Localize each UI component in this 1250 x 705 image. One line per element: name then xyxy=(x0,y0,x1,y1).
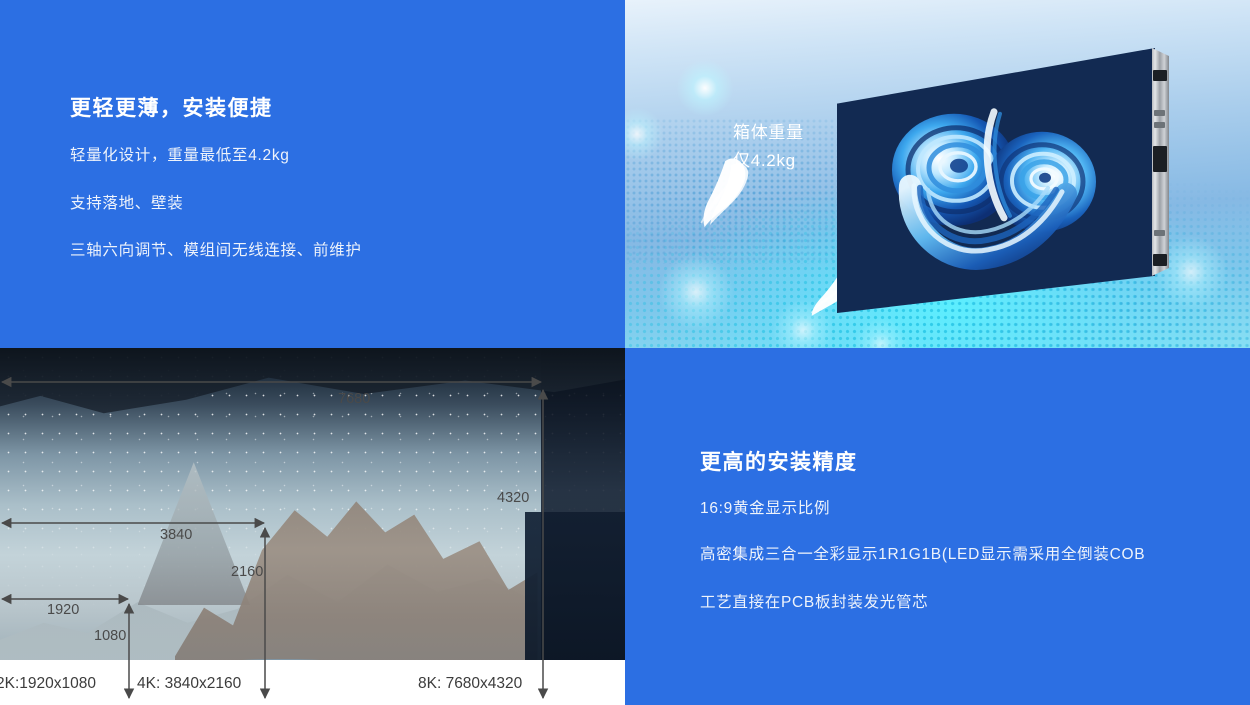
top-left-bullet-2: 支持落地、壁装 xyxy=(70,191,183,213)
dimension-label-3840: 3840 xyxy=(160,527,192,543)
caption-4k: 4K: 3840x2160 xyxy=(137,675,241,693)
dimension-label-1920: 1920 xyxy=(47,602,79,618)
led-cabinet-side-edge xyxy=(1152,48,1169,313)
bottom-right-bullet-1: 16:9黄金显示比例 xyxy=(700,496,830,518)
cabinet-chip xyxy=(1154,230,1165,236)
cabinet-port xyxy=(1153,146,1167,172)
panel-top-left: 更轻更薄，安装便捷 轻量化设计，重量最低至4.2kg 支持落地、壁装 三轴六向调… xyxy=(0,0,625,348)
top-left-title: 更轻更薄，安装便捷 xyxy=(70,92,273,122)
panel-bottom-right: 更高的安装精度 16:9黄金显示比例 高密集成三合一全彩显示1R1G1B(LED… xyxy=(625,348,1250,705)
cabinet-chip xyxy=(1154,110,1165,116)
bottom-right-bullet-2: 高密集成三合一全彩显示1R1G1B(LED显示需采用全倒装COB xyxy=(700,542,1145,564)
dimension-label-2160: 2160 xyxy=(231,564,263,580)
caption-8k: 8K: 7680x4320 xyxy=(418,675,522,693)
cabinet-port xyxy=(1153,70,1167,81)
caption-2k: 2K:1920x1080 xyxy=(0,675,96,693)
bottom-right-title: 更高的安装精度 xyxy=(700,446,858,476)
cabinet-chip xyxy=(1154,122,1165,128)
slide-root: 更轻更薄，安装便捷 轻量化设计，重量最低至4.2kg 支持落地、壁装 三轴六向调… xyxy=(0,0,1250,705)
top-left-bullet-1: 轻量化设计，重量最低至4.2kg xyxy=(70,143,290,165)
dimension-label-1080: 1080 xyxy=(94,628,126,644)
panel-bottom-left: 7680 3840 1920 4320 2160 1080 2K:1920x10… xyxy=(0,348,625,705)
dimension-arrows xyxy=(0,348,625,705)
panel-top-right: 箱体重量 仅4.2kg xyxy=(625,0,1250,348)
weight-callout-line-1: 箱体重量 xyxy=(733,118,804,143)
top-left-bullet-3: 三轴六向调节、模组间无线连接、前维护 xyxy=(70,238,362,260)
led-cabinet xyxy=(837,48,1197,313)
led-screen-artwork xyxy=(876,89,1116,279)
bottom-right-bullet-3: 工艺直接在PCB板封装发光管芯 xyxy=(700,590,928,612)
dimension-label-4320: 4320 xyxy=(497,490,529,506)
cabinet-port xyxy=(1153,254,1167,266)
weight-callout-line-2: 仅4.2kg xyxy=(733,146,796,171)
dimension-label-7680: 7680 xyxy=(338,391,370,407)
led-screen-face xyxy=(837,48,1155,313)
